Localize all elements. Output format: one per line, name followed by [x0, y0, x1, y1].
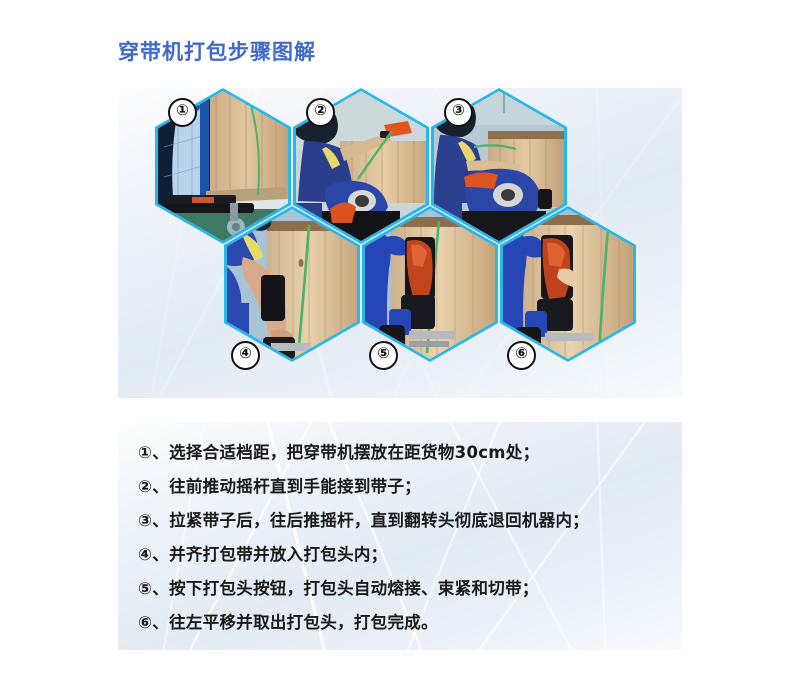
- badge-step-5: ⑤: [369, 341, 398, 370]
- badge-step-2: ②: [306, 98, 335, 127]
- steps-panel: ①、选择合适档距，把穿带机摆放在距货物30cm处； ②、往前推动摇杆直到手能接到…: [118, 422, 682, 650]
- step-line: ⑥、往左平移并取出打包头，打包完成。: [138, 606, 672, 640]
- step-line: ④、并齐打包带并放入打包头内；: [138, 538, 672, 572]
- step-line: ③、拉紧带子后，往后推摇杆，直到翻转头彻底退回机器内；: [138, 504, 672, 538]
- page-title: 穿带机打包步骤图解: [118, 36, 316, 66]
- step-line: ⑤、按下打包头按钮，打包头自动熔接、束紧和切带；: [138, 572, 672, 606]
- step-line: ②、往前推动摇杆直到手能接到带子；: [138, 470, 672, 504]
- hex-image-5: [365, 209, 495, 359]
- badge-step-6: ⑥: [507, 341, 536, 370]
- badge-step-3: ③: [444, 98, 473, 127]
- hex-image-4: [227, 209, 357, 359]
- step-line: ①、选择合适档距，把穿带机摆放在距货物30cm处；: [138, 436, 672, 470]
- gallery-panel: ①: [118, 88, 682, 398]
- badge-step-4: ④: [231, 341, 260, 370]
- badge-step-1: ①: [168, 98, 197, 127]
- steps-list: ①、选择合适档距，把穿带机摆放在距货物30cm处； ②、往前推动摇杆直到手能接到…: [138, 436, 672, 640]
- hex-image-6: [503, 209, 633, 359]
